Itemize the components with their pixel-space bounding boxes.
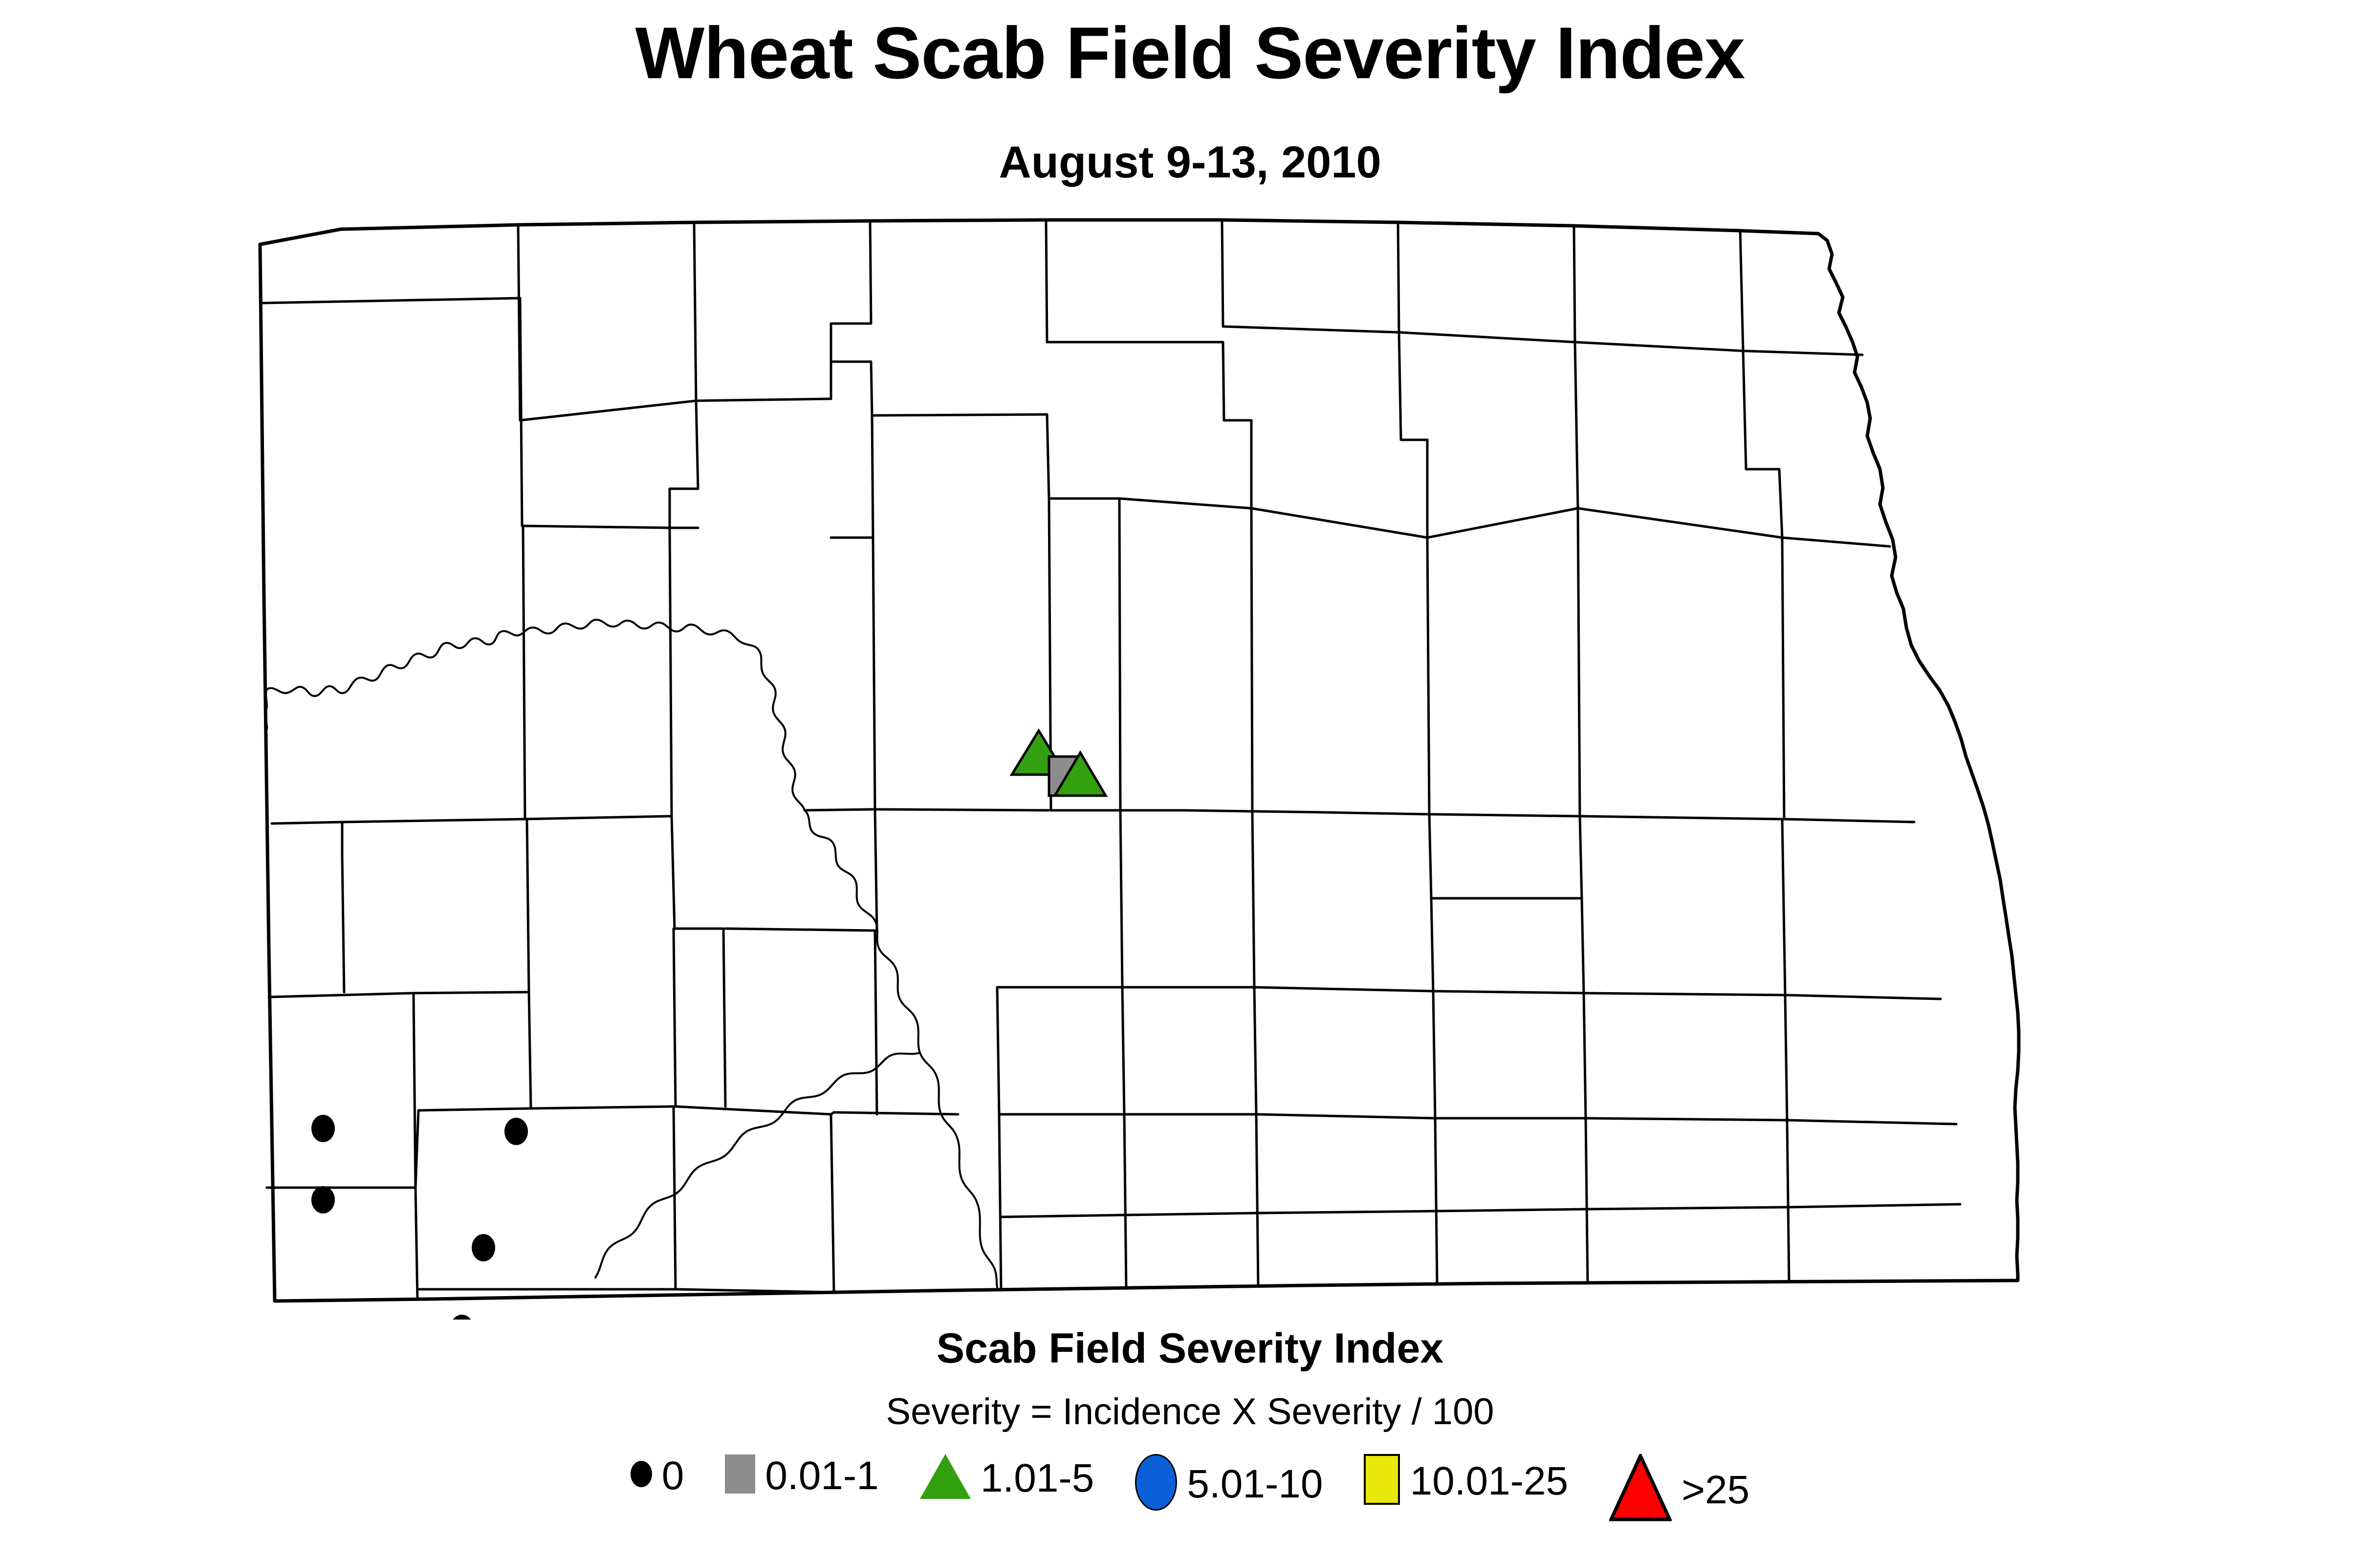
county-line: [831, 415, 873, 538]
legend-item-4: 10.01-25: [1364, 1454, 1568, 1505]
legend-gray-square-icon: [725, 1454, 755, 1494]
county-line: [414, 993, 415, 1188]
legend-label: 0.01-1: [765, 1456, 879, 1496]
county-line: [1437, 1209, 1588, 1211]
county-line: [875, 931, 877, 1114]
county-line: [875, 809, 877, 931]
legend-item-5: >25: [1609, 1454, 1749, 1522]
county-line: [1782, 819, 1785, 993]
legend-label: 1.01-5: [981, 1458, 1094, 1498]
county-line: [1575, 342, 1578, 508]
county-line: [1575, 342, 1743, 351]
marker-dot-black: [472, 1234, 495, 1261]
county-line: [1001, 1215, 1126, 1217]
page-title: Wheat Scab Field Severity Index: [0, 15, 2380, 92]
county-line: [1223, 342, 1251, 508]
county-line: [1574, 226, 1575, 342]
county-line: [1251, 508, 1252, 812]
county-line: [1427, 538, 1429, 814]
county-line: [1784, 819, 1914, 822]
county-line: [522, 526, 670, 528]
county-line: [1122, 987, 1124, 1114]
county-line: [1578, 508, 1782, 538]
missouri-river-branch: [595, 1053, 920, 1278]
county-line: [872, 414, 1047, 415]
county-line: [1046, 220, 1047, 342]
county-line: [1431, 898, 1433, 993]
county-line: [523, 816, 670, 819]
county-line: [1254, 987, 1433, 991]
county-line: [342, 819, 523, 822]
county-line: [1743, 351, 1862, 355]
county-line: [670, 528, 672, 816]
county-line: [674, 929, 676, 1106]
county-line: [1256, 1114, 1435, 1118]
county-line: [670, 401, 698, 528]
red-triangle-svg: [1609, 1454, 1672, 1522]
county-line: [520, 401, 696, 420]
county-line: [1782, 538, 1890, 546]
county-line: [1124, 1114, 1126, 1288]
county-line: [1399, 332, 1427, 538]
marker-dot-black: [450, 1315, 474, 1320]
county-line: [1785, 995, 1787, 1120]
lake-sakakawea: [267, 620, 805, 810]
county-line: [676, 1289, 831, 1292]
legend-item-1: 0.01-1: [725, 1454, 879, 1494]
county-line: [1429, 814, 1545, 898]
north-dakota-county-map: [0, 195, 2380, 1320]
legend-blue-circle-icon: [1135, 1454, 1177, 1511]
county-line: [831, 221, 872, 415]
county-line: [696, 399, 831, 401]
legend-item-2: 1.01-5: [920, 1454, 1094, 1499]
county-line: [1119, 499, 1120, 810]
legend-label: 10.01-25: [1410, 1461, 1568, 1501]
county-line: [531, 1106, 674, 1108]
county-line: [672, 816, 723, 929]
page-root: Wheat Scab Field Severity Index August 9…: [0, 0, 2380, 1561]
county-line: [1254, 987, 1256, 1114]
county-line: [1258, 1211, 1437, 1213]
county-line: [1119, 499, 1251, 508]
legend-label: 0: [662, 1456, 684, 1496]
county-line: [342, 855, 344, 992]
county-line: [1399, 332, 1575, 342]
marker-dot-black: [311, 1186, 335, 1214]
county-line: [725, 929, 875, 931]
legend-green-triangle-icon: [920, 1454, 971, 1499]
county-line: [1320, 812, 1427, 814]
county-line: [1126, 1213, 1258, 1215]
legend-red-triangle-icon: [1609, 1454, 1672, 1522]
county-line: [1578, 508, 1580, 816]
county-line: [520, 298, 522, 526]
county-line: [831, 1112, 958, 1114]
county-line: [1433, 991, 1584, 993]
county-line: [805, 809, 873, 810]
county-line: [263, 298, 520, 303]
county-line: [1256, 1114, 1258, 1286]
legend-yellow-square-icon: [1364, 1454, 1400, 1505]
county-line: [1582, 898, 1584, 993]
legend-dot-icon: [631, 1461, 652, 1487]
county-line: [723, 929, 725, 1106]
county-line: [1251, 508, 1427, 538]
legend-item-0: 0: [631, 1454, 684, 1494]
county-line: [1588, 1207, 1789, 1209]
marker-dot-black: [504, 1118, 528, 1145]
county-line: [1789, 1204, 1960, 1207]
county-line: [1580, 816, 1582, 898]
county-line: [1586, 1118, 1588, 1282]
county-line: [1782, 538, 1784, 819]
map-container: [0, 195, 2380, 1320]
county-line: [269, 993, 414, 997]
county-line: [1120, 810, 1122, 987]
county-line: [1427, 508, 1578, 538]
county-line: [527, 819, 529, 992]
county-line: [1252, 812, 1254, 987]
county-line: [1433, 991, 1435, 1118]
county-line: [523, 526, 525, 819]
county-line: [999, 1114, 1001, 1290]
county-line: [873, 538, 875, 809]
legend-label: >25: [1681, 1470, 1749, 1510]
county-line: [272, 822, 342, 855]
county-line: [415, 1188, 417, 1299]
county-line: [997, 987, 999, 1114]
legend: 0 0.01-1 1.01-5 5.01-10 10.01-25 >25: [0, 1454, 2380, 1542]
county-line: [1584, 993, 1785, 995]
county-line: [1787, 1120, 1956, 1124]
county-line: [694, 222, 696, 401]
county-line: [1222, 220, 1223, 326]
county-line: [1584, 993, 1586, 1118]
county-line: [1435, 1118, 1437, 1284]
marker-dot-black: [311, 1115, 335, 1142]
county-line: [1743, 351, 1782, 538]
county-line: [1047, 414, 1119, 499]
county-line: [1223, 326, 1399, 332]
legend-title: Scab Field Severity Index: [0, 1324, 2380, 1373]
county-line: [676, 1106, 831, 1114]
county-line: [1429, 814, 1578, 816]
county-line: [1785, 995, 1941, 999]
county-line: [1787, 1120, 1789, 1281]
county-line: [414, 992, 527, 993]
legend-formula: Severity = Incidence X Severity / 100: [0, 1390, 2380, 1433]
county-line: [1740, 231, 1743, 351]
legend-label: 5.01-10: [1187, 1464, 1323, 1504]
county-line: [1398, 222, 1399, 332]
legend-item-3: 5.01-10: [1135, 1454, 1323, 1511]
data-markers: [311, 731, 1106, 1320]
county-line: [674, 1106, 676, 1289]
county-line: [529, 992, 531, 1108]
county-line: [1586, 1118, 1787, 1120]
county-line: [1580, 816, 1782, 819]
county-line: [831, 1114, 834, 1292]
page-subtitle: August 9-13, 2010: [0, 137, 2380, 188]
county-line: [875, 809, 1049, 810]
